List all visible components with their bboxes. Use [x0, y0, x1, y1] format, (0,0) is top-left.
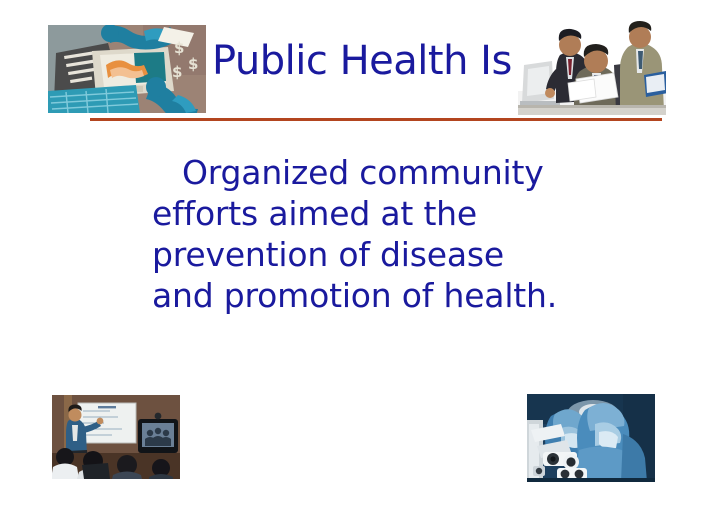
slide-header: $ $ $ Public Health Is [0, 0, 720, 128]
business-technology-clipart: $ $ $ [48, 25, 206, 113]
slide: $ $ $ Public Health Is [0, 0, 720, 509]
header-divider-rule [90, 118, 662, 121]
body-line-2: efforts aimed at the [152, 193, 622, 234]
body-line-1: Organized community [152, 152, 622, 193]
classroom-presentation-photo [52, 395, 180, 479]
body-line-3: prevention of disease [152, 234, 622, 275]
businessmen-meeting-photo [518, 17, 666, 115]
svg-text:$: $ [172, 63, 182, 81]
body-line-4: and promotion of health. [152, 275, 622, 316]
surgeons-operating-photo [527, 394, 655, 482]
svg-text:$: $ [174, 39, 184, 57]
slide-body-text: Organized community efforts aimed at the… [152, 152, 622, 316]
svg-text:$: $ [188, 55, 198, 73]
page-title: Public Health Is [212, 33, 512, 93]
